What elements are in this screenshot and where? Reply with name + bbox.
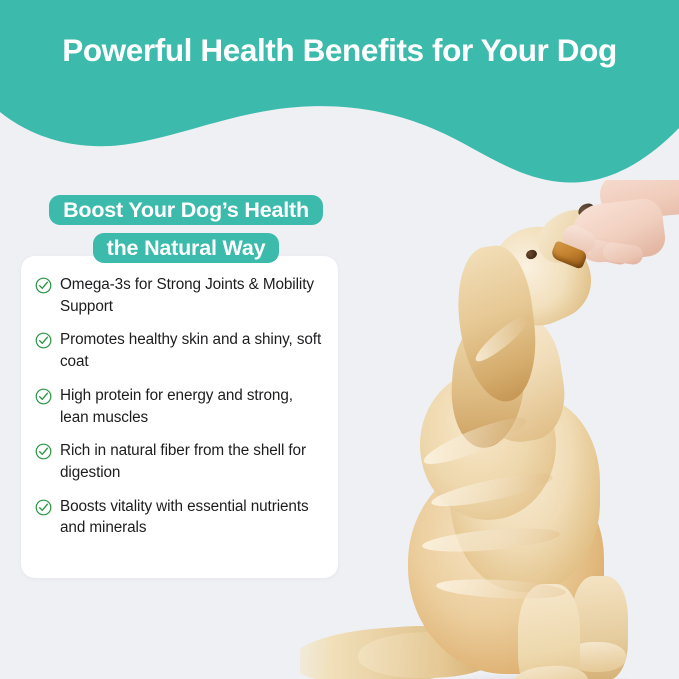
check-circle-icon	[35, 388, 52, 405]
list-item: Rich in natural fiber from the shell for…	[35, 440, 322, 483]
product-infographic: Powerful Health Benefits for Your Dog	[0, 0, 679, 679]
check-circle-icon	[35, 499, 52, 516]
check-circle-icon	[35, 443, 52, 460]
benefit-text: Boosts vitality with essential nutrients…	[60, 496, 322, 539]
list-item: High protein for energy and strong, lean…	[35, 385, 322, 428]
header-wave-banner	[0, 0, 679, 190]
section-heading-badge: Boost Your Dog’s Health the Natural Way	[21, 191, 351, 267]
check-circle-icon	[35, 277, 52, 294]
benefit-text: Promotes healthy skin and a shiny, soft …	[60, 329, 322, 372]
list-item: Omega-3s for Strong Joints & Mobility Su…	[35, 274, 322, 317]
benefit-text: Omega-3s for Strong Joints & Mobility Su…	[60, 274, 322, 317]
list-item: Promotes healthy skin and a shiny, soft …	[35, 329, 322, 372]
benefit-text: High protein for energy and strong, lean…	[60, 385, 322, 428]
dog-photo	[300, 180, 679, 679]
list-item: Boosts vitality with essential nutrients…	[35, 496, 322, 539]
page-title: Powerful Health Benefits for Your Dog	[0, 32, 679, 70]
check-circle-icon	[35, 332, 52, 349]
badge-line-2: the Natural Way	[93, 233, 280, 263]
benefits-card: Omega-3s for Strong Joints & Mobility Su…	[21, 256, 338, 578]
badge-line-1: Boost Your Dog’s Health	[49, 195, 323, 225]
benefit-text: Rich in natural fiber from the shell for…	[60, 440, 322, 483]
